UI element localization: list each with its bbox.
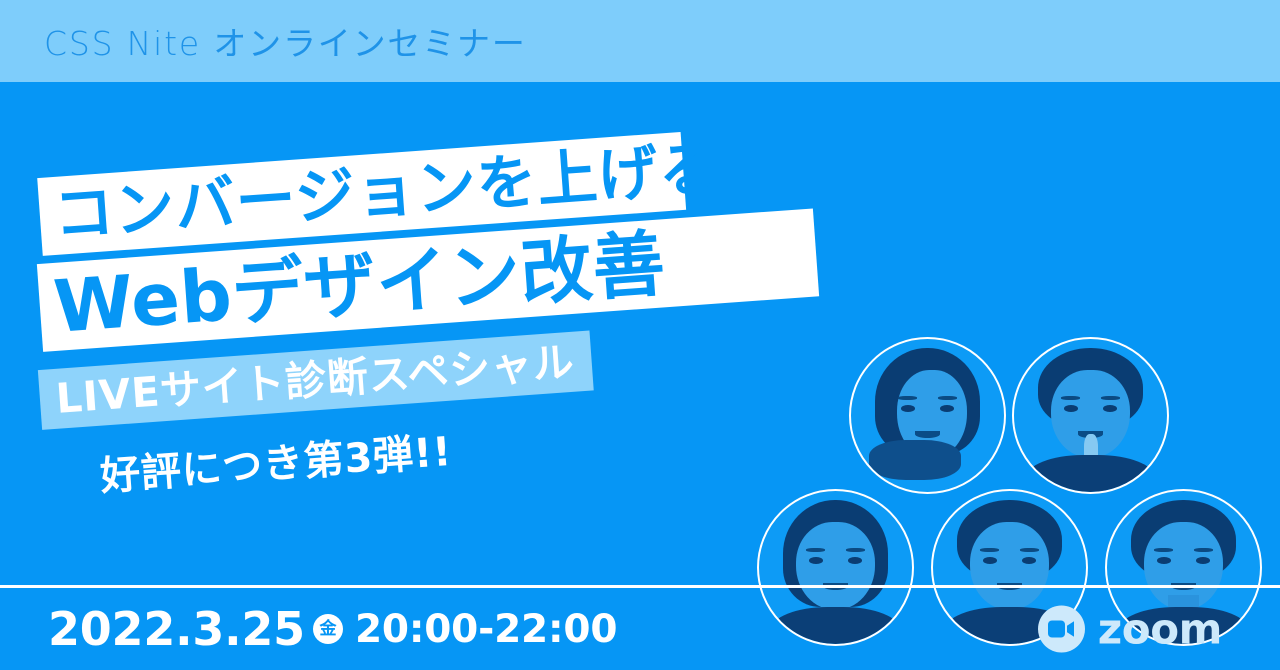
speaker-portrait-1 (849, 337, 1006, 494)
event-datetime: 2022.3.25 金 20:00-22:00 (48, 606, 617, 652)
subtitle-band-text: LIVEサイト診断スペシャル (54, 341, 575, 419)
event-time-range: 20:00-22:00 (355, 610, 617, 649)
event-date: 2022.3.25 (48, 606, 305, 652)
tagline-text: 好評につき第3弾!! (98, 419, 454, 502)
header-strip: CSS Nite オンラインセミナー (0, 0, 1280, 82)
event-banner: CSS Nite オンラインセミナー コンバージョンを上げる Webデザイン改善… (0, 0, 1280, 670)
video-camera-icon (1038, 606, 1085, 653)
zoom-logo: zoom (1038, 606, 1222, 653)
speaker-photo-2 (1014, 339, 1167, 492)
day-of-week-badge: 金 (313, 614, 343, 644)
zoom-wordmark: zoom (1098, 608, 1222, 650)
footer-bar: 2022.3.25 金 20:00-22:00 zoom (0, 588, 1280, 670)
brand-title: CSS Nite オンラインセミナー (44, 17, 527, 65)
speaker-portrait-2 (1012, 337, 1169, 494)
main-stage: コンバージョンを上げる Webデザイン改善 LIVEサイト診断スペシャル 好評に… (0, 82, 1280, 670)
speaker-photo-1 (851, 339, 1004, 492)
